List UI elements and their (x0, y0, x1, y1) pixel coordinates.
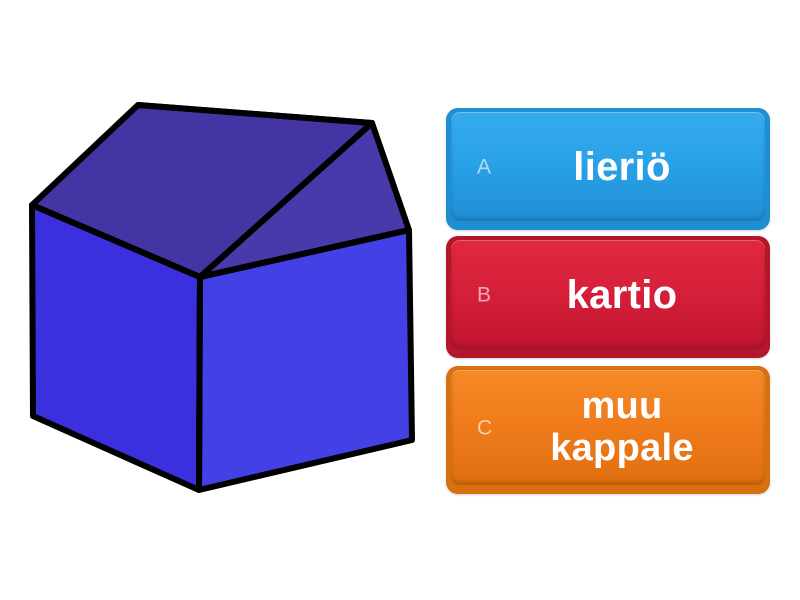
answer-option-a[interactable]: A lieriö (446, 108, 770, 230)
answer-option-c[interactable]: C muu kappale (446, 366, 770, 494)
answer-options-list: A lieriö B kartio C muu kappale (440, 0, 800, 600)
quiz-screen: A lieriö B kartio C muu kappale (0, 0, 800, 600)
answer-option-b[interactable]: B kartio (446, 236, 770, 358)
answer-option-a-surface: A lieriö (451, 112, 765, 221)
answer-option-c-letter: C (477, 417, 493, 438)
answer-option-b-letter: B (477, 284, 492, 305)
pentagonal-prism-icon (0, 0, 440, 600)
shape-illustration-panel (0, 0, 440, 600)
prism-front-vertical-edge (199, 277, 200, 490)
answer-option-a-letter: A (477, 156, 492, 177)
answer-option-a-label: lieriö (451, 146, 765, 188)
answer-option-c-label: muu kappale (451, 386, 765, 468)
answer-option-b-label: kartio (451, 274, 765, 316)
answer-option-b-surface: B kartio (451, 240, 765, 349)
answer-option-c-surface: C muu kappale (451, 370, 765, 485)
